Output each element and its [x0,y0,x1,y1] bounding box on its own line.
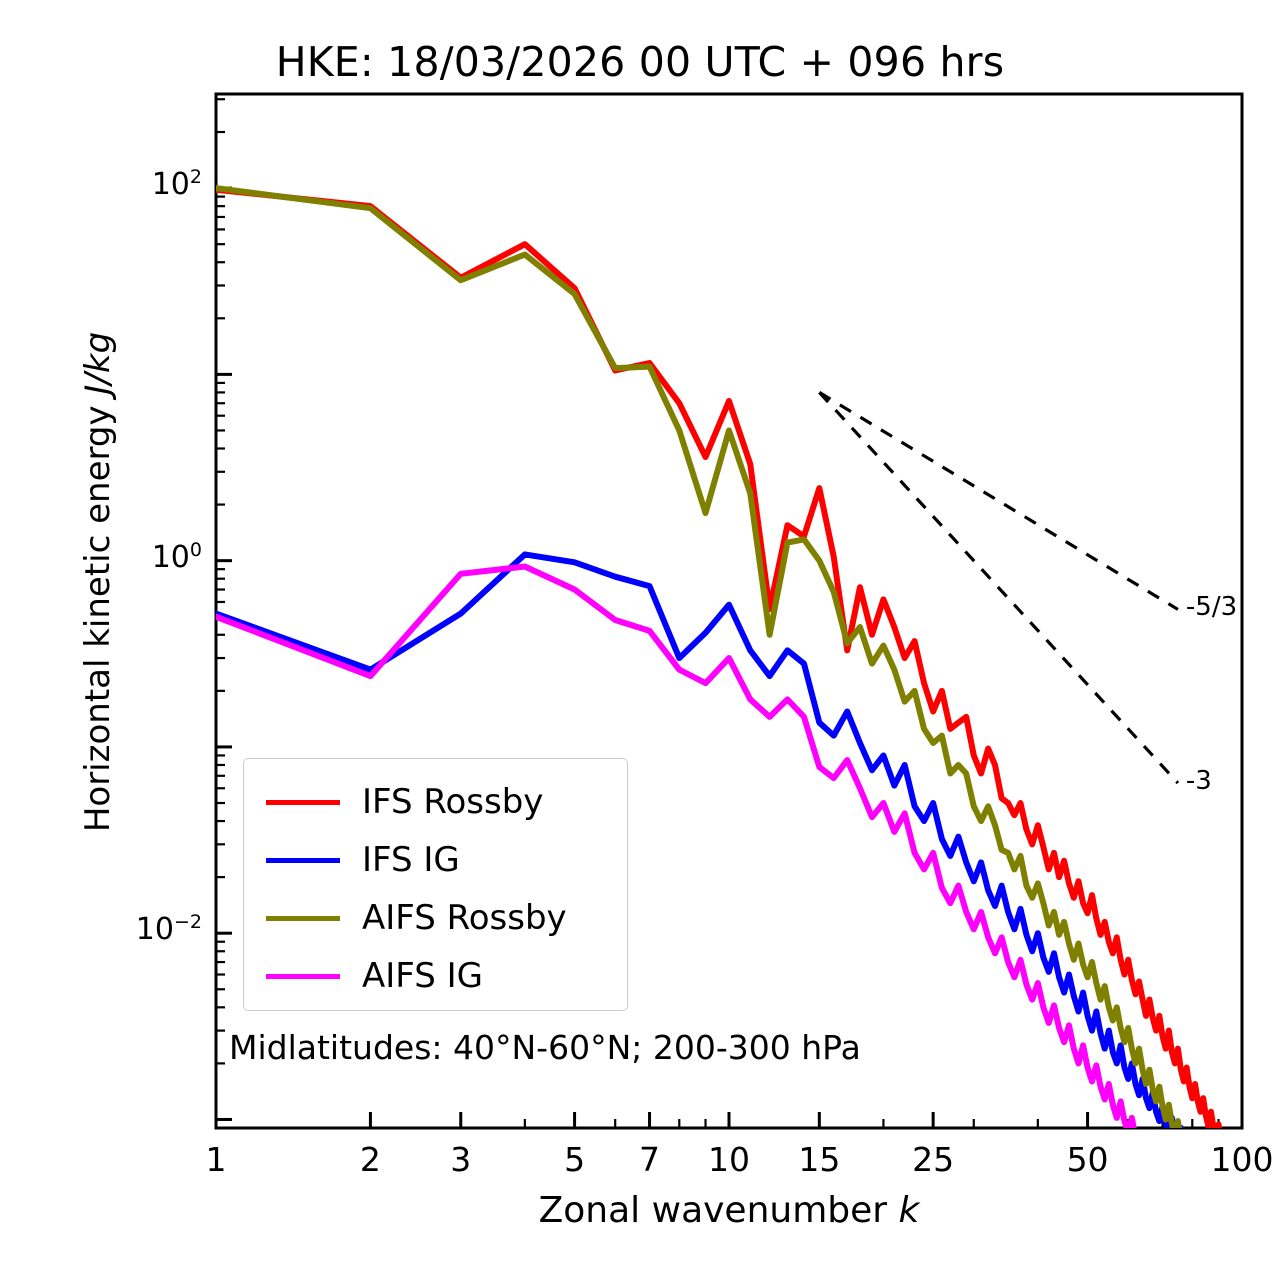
x-tick-label: 1 [206,1140,227,1179]
legend-item[interactable]: IFS Rossby [244,773,627,831]
x-tick-label: 3 [450,1140,471,1179]
legend-item-label: AIFS IG [362,959,483,993]
legend[interactable]: IFS Rossby IFS IG AIFS Rossby AIFS IG [243,758,628,1011]
legend-item-label: IFS IG [362,843,460,877]
legend-item[interactable]: AIFS IG [244,947,627,1005]
chart-figure: HKE: 18/03/2026 00 UTC + 096 hrs Horizon… [0,0,1280,1288]
legend-color-swatch [266,858,340,863]
x-tick-label: 100 [1211,1140,1274,1179]
x-tick-label: 15 [798,1140,840,1179]
data-series-group [216,188,1242,1246]
y-tick-label: 100 [152,539,202,575]
legend-item[interactable]: AIFS Rossby [244,889,627,947]
x-tick-label: 2 [360,1140,381,1179]
slope-label: -3 [1186,766,1212,796]
legend-color-swatch [266,800,340,805]
legend-item-label: AIFS Rossby [362,901,567,935]
y-tick-label: 10−2 [136,911,202,947]
y-tick-label: 102 [152,166,202,202]
slope-label: -5/3 [1186,592,1237,622]
legend-color-swatch [266,974,340,979]
legend-item-label: IFS Rossby [362,785,543,819]
legend-item[interactable]: IFS IG [244,831,627,889]
x-tick-label: 5 [564,1140,585,1179]
x-tick-label: 50 [1067,1140,1109,1179]
x-tick-label: 25 [912,1140,954,1179]
region-annotation: Midlatitudes: 40°N-60°N; 200-300 hPa [229,1028,861,1067]
x-tick-label: 7 [639,1140,660,1179]
reference-slope-lines [819,392,1178,783]
legend-color-swatch [266,916,340,921]
x-tick-label: 10 [708,1140,750,1179]
